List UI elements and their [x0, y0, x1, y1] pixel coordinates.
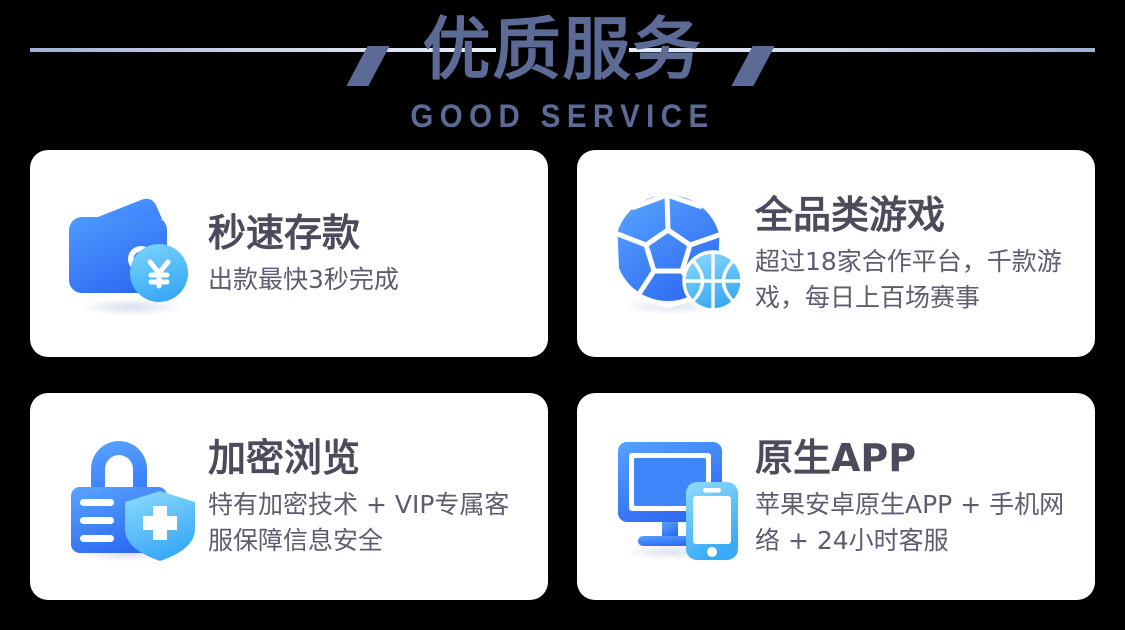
monitor-phone-icon [605, 422, 755, 572]
page-subtitle: GOOD SERVICE [45, 98, 1080, 134]
feature-card-native-app[interactable]: 原生APP 苹果安卓原生APP + 手机网络 + 24小时客服 [577, 393, 1095, 600]
card-text-block: 加密浏览 特有加密技术 + VIP专属客服保障信息安全 [208, 435, 548, 559]
header: 优质服务 GOOD SERVICE [0, 0, 1125, 150]
card-subtitle: 苹果安卓原生APP + 手机网络 + 24小时客服 [755, 487, 1077, 559]
feature-card-deposit[interactable]: 秒速存款 出款最快3秒完成 [30, 150, 548, 357]
card-text-block: 全品类游戏 超过18家合作平台，千款游戏，每日上百场赛事 [755, 192, 1095, 316]
card-title: 加密浏览 [208, 435, 530, 481]
lock-shield-icon [58, 422, 208, 572]
wallet-yen-icon [58, 179, 208, 329]
feature-card-games[interactable]: 全品类游戏 超过18家合作平台，千款游戏，每日上百场赛事 [577, 150, 1095, 357]
page-title: 优质服务 [0, 8, 1125, 94]
card-text-block: 原生APP 苹果安卓原生APP + 手机网络 + 24小时客服 [755, 435, 1095, 559]
banner-root: 优质服务 GOOD SERVICE [0, 0, 1125, 630]
feature-card-encryption[interactable]: 加密浏览 特有加密技术 + VIP专属客服保障信息安全 [30, 393, 548, 600]
card-title: 全品类游戏 [755, 192, 1077, 238]
card-subtitle: 特有加密技术 + VIP专属客服保障信息安全 [208, 487, 530, 559]
card-text-block: 秒速存款 出款最快3秒完成 [208, 210, 417, 298]
card-subtitle: 超过18家合作平台，千款游戏，每日上百场赛事 [755, 244, 1077, 316]
card-title: 原生APP [755, 435, 1077, 481]
card-subtitle: 出款最快3秒完成 [208, 262, 399, 298]
card-title: 秒速存款 [208, 210, 399, 256]
feature-card-grid: 秒速存款 出款最快3秒完成 [30, 150, 1095, 600]
soccer-basketball-icon [605, 179, 755, 329]
